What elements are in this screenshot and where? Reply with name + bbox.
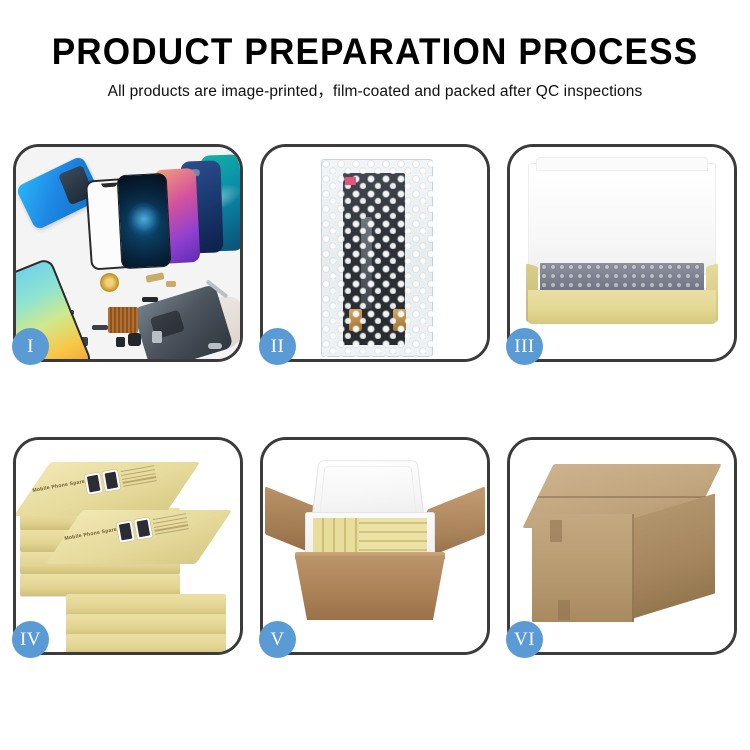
step-panel-3: III (507, 144, 737, 362)
pink-qc-label (345, 177, 356, 185)
stacked-box-layer (66, 614, 226, 636)
phone-dark-wallpaper (117, 173, 172, 269)
part-screws (208, 343, 222, 349)
step-image-1 (16, 147, 240, 359)
step-image-4: Mobile Phone Spare Parts Mobile Phone Sp… (16, 440, 240, 652)
copper-grid-component (108, 307, 138, 333)
stacked-box-layer (66, 634, 226, 652)
part-button-flex (92, 325, 108, 330)
bubble-texture (321, 159, 433, 357)
box-stack: Mobile Phone Spare Parts Mobile Phone Sp… (18, 454, 240, 648)
step-panel-6: VI (507, 437, 737, 655)
carton-front-face (295, 556, 445, 620)
carton-tape-lower (558, 600, 570, 620)
step-image-3 (510, 147, 734, 359)
page-title: PRODUCT PREPARATION PROCESS (19, 32, 732, 72)
part-flex-gold-2 (166, 281, 176, 287)
bubble-wrap-bag (321, 159, 433, 357)
carton-front-face (532, 514, 634, 622)
stacked-box-layer (66, 594, 226, 616)
part-connector-2 (116, 337, 125, 347)
step-badge-1: I (12, 328, 49, 365)
part-bracket-2 (152, 331, 162, 343)
step-badge-3: III (506, 328, 543, 365)
part-flex-gold-1 (145, 272, 164, 283)
grey-bubble-wrap-contents (540, 263, 704, 293)
step-panel-5: V (260, 437, 490, 655)
step-image-5 (263, 440, 487, 652)
steps-grid: I II III (13, 144, 737, 734)
header: PRODUCT PREPARATION PROCESS All products… (0, 0, 750, 102)
page-subtitle: All products are image-printed，film-coat… (0, 82, 750, 102)
wireless-charging-coil (100, 273, 119, 292)
carton-tape-upper (550, 520, 562, 542)
step-image-2 (263, 147, 487, 359)
step-panel-2: II (260, 144, 490, 362)
white-box-lid (528, 163, 716, 275)
step-badge-5: V (259, 621, 296, 658)
step-image-6 (510, 440, 734, 652)
step-panel-1: I (13, 144, 243, 362)
step-panel-4: Mobile Phone Spare Parts Mobile Phone Sp… (13, 437, 243, 655)
carton-corner-seam (632, 514, 634, 622)
step-badge-6: VI (506, 621, 543, 658)
stacked-box-layer (20, 574, 180, 596)
product-preparation-infographic: PRODUCT PREPARATION PROCESS All products… (0, 0, 750, 750)
step-badge-2: II (259, 328, 296, 365)
step-badge-4: IV (12, 621, 49, 658)
carton-flap-right (427, 486, 485, 557)
part-connector-1 (142, 297, 158, 302)
part-camera-module (128, 333, 141, 346)
yellow-box-front (528, 290, 716, 324)
